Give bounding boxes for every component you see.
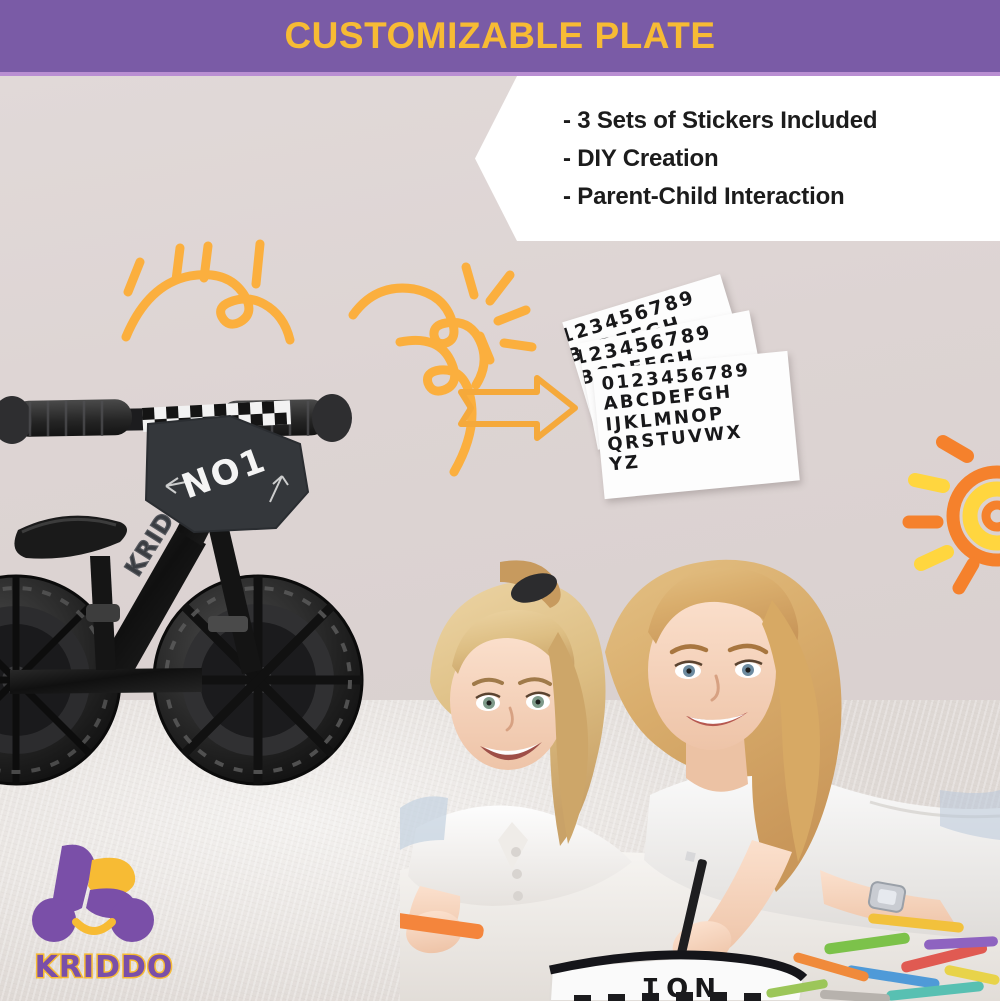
feature-callout: - 3 Sets of Stickers Included - DIY Crea… <box>475 76 1000 241</box>
banner-underline <box>0 72 1000 76</box>
header-banner: CUSTOMIZABLE PLATE <box>0 0 1000 72</box>
sticker-sheets-group: 0123456789 ABCDEFGH 0123456789 ABCDEFGH … <box>570 288 805 523</box>
sticker-sheet-front-text: 0123456789 ABCDEFGH IJKLMNOP QRSTUVWX YZ <box>601 361 759 476</box>
kriddo-balance-bike: KRIDDO <box>0 380 430 830</box>
feature-line-2: - DIY Creation <box>563 147 992 171</box>
page-title: CUSTOMIZABLE PLATE <box>284 15 715 57</box>
logo-smile <box>76 922 112 931</box>
kriddo-logo-mark <box>24 838 184 950</box>
floor-number-plate: NO1 <box>550 954 804 1001</box>
sticker-sheet-front: 0123456789 ABCDEFGH IJKLMNOP QRSTUVWX YZ <box>592 351 800 499</box>
kriddo-logo: KRIDDO <box>24 838 184 996</box>
product-marketing-image: 0123456789 ABCDEFGH 0123456789 ABCDEFGH … <box>0 0 1000 1001</box>
brand-wordmark: KRIDDO <box>24 950 184 985</box>
feature-line-3: - Parent-Child Interaction <box>563 185 992 209</box>
mother-child-drawing-photo: NO1 <box>400 540 1000 1001</box>
logo-wheel-left <box>32 898 76 942</box>
feature-line-1: - 3 Sets of Stickers Included <box>563 109 992 133</box>
logo-wheel-right <box>110 898 154 942</box>
